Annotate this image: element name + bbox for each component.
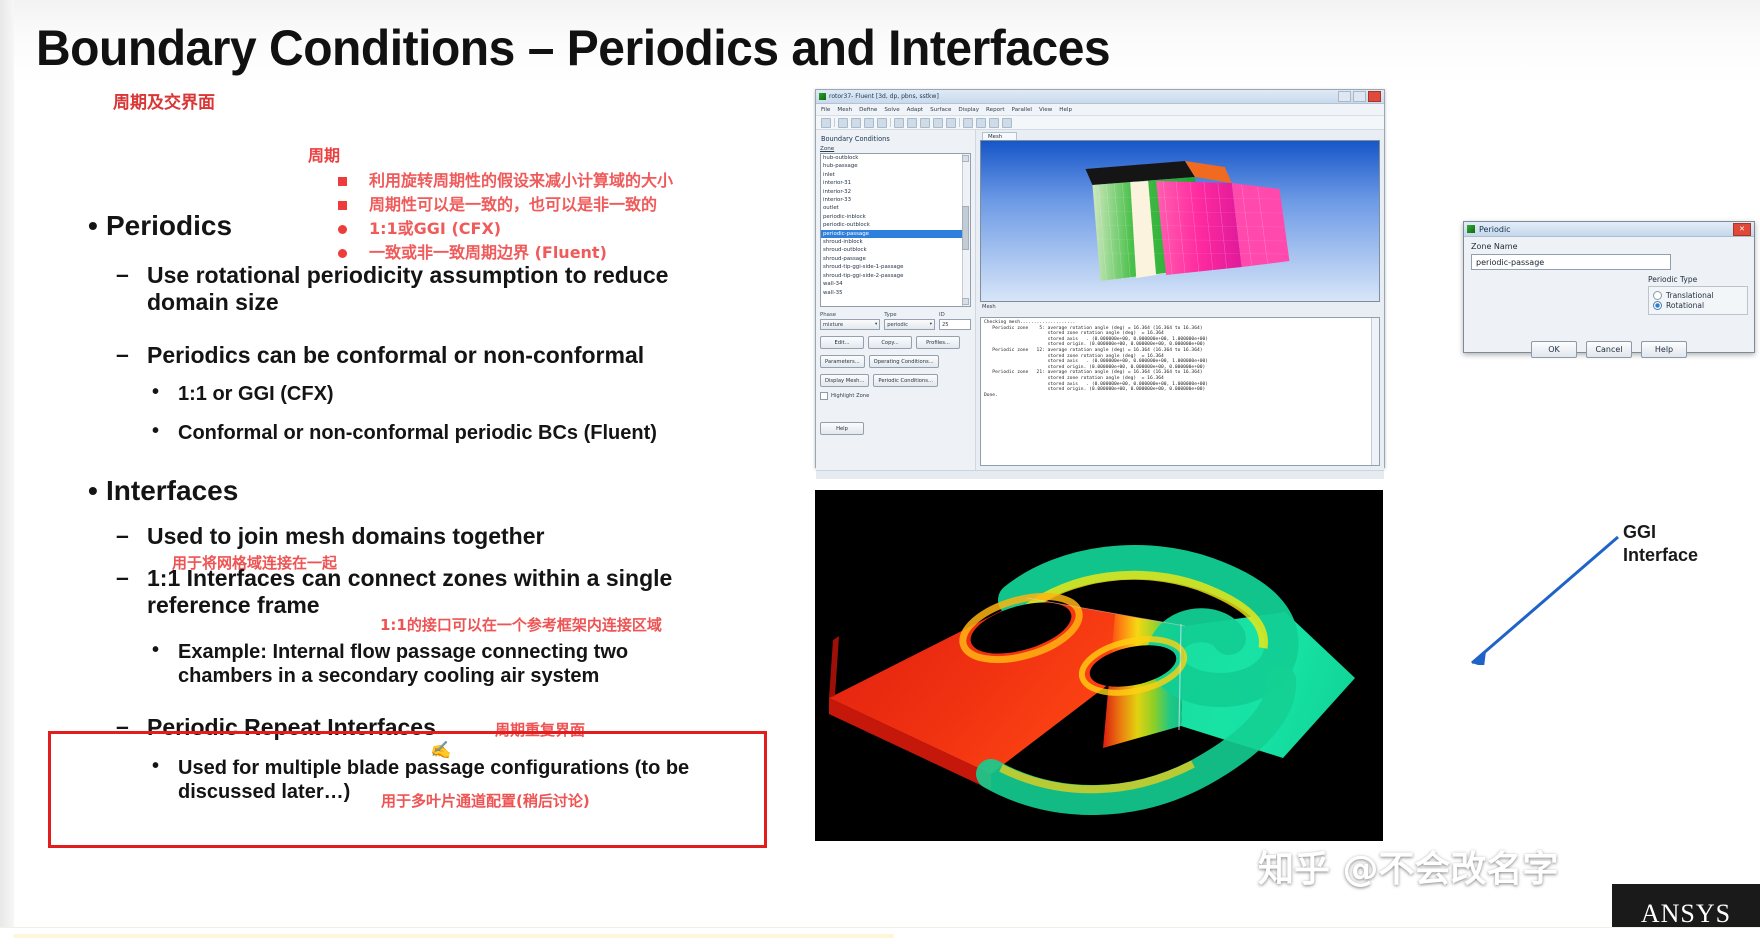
id-value[interactable]: 25: [939, 319, 971, 330]
menu-file[interactable]: File: [821, 107, 830, 113]
console-text: Checking mesh.................... Period…: [984, 320, 1376, 398]
bullet-line: domain size: [147, 289, 767, 316]
square-bullet-icon: [338, 201, 347, 210]
dash-bullet-icon: –: [116, 522, 129, 549]
annotation-item-text: 一致或非一致周期边界 (Fluent): [369, 243, 607, 263]
rotate-icon[interactable]: [894, 118, 904, 128]
chevron-down-icon: ▾: [930, 322, 932, 327]
type-value: periodic: [887, 322, 908, 328]
edit-button[interactable]: Edit...: [820, 336, 864, 349]
red-highlight-box: [48, 731, 767, 848]
zone-list-item[interactable]: interior-31: [821, 179, 970, 187]
boundary-conditions-panel[interactable]: Boundary Conditions Zone hub-outblock hu…: [816, 130, 976, 470]
zone-list-item-selected[interactable]: periodic-passage: [821, 230, 970, 238]
annotation-item-text: 周期性可以是一致的，也可以是非一致的: [369, 195, 657, 215]
bullet-interfaces-heading: •Interfaces: [88, 475, 238, 507]
annotation-item-text: 1:1或GGI (CFX): [369, 219, 501, 239]
minimize-icon[interactable]: [1338, 91, 1351, 102]
periodic-type-label: Periodic Type: [1648, 275, 1748, 284]
zone-list-item[interactable]: wall-35: [821, 289, 970, 297]
scroll-down-icon[interactable]: [962, 298, 969, 305]
periodic-dialog-body: Zone Name periodic-passage Periodic Type…: [1464, 237, 1754, 367]
phase-label: Phase: [820, 312, 880, 318]
menu-surface[interactable]: Surface: [930, 107, 951, 113]
id-label: ID: [939, 312, 971, 318]
menu-mesh[interactable]: Mesh: [837, 107, 852, 113]
ggi-interface-label: GGI Interface: [1623, 521, 1698, 566]
copy-button[interactable]: Copy...: [868, 336, 912, 349]
radio-translational[interactable]: Translational: [1653, 291, 1743, 300]
write-icon[interactable]: [851, 118, 861, 128]
annotation-heading: 周期: [308, 142, 728, 166]
highlight-zone-label: Highlight Zone: [831, 393, 869, 399]
help-button[interactable]: Help: [1641, 341, 1687, 358]
radio-icon[interactable]: [1653, 291, 1662, 300]
periodic-dialog-buttons[interactable]: OK Cancel Help: [1464, 341, 1754, 358]
zone-list-item[interactable]: periodic-inblock: [821, 213, 970, 221]
menu-adapt[interactable]: Adapt: [907, 107, 923, 113]
zoom-in-icon[interactable]: [920, 118, 930, 128]
panel-heading: Boundary Conditions: [821, 135, 971, 143]
bullet-1to1-interfaces-connect-zones: – 1:1 Interfaces can connect zones withi…: [147, 565, 787, 619]
bullet-dot-icon: •: [88, 475, 106, 507]
zone-list-label: Zone: [820, 146, 971, 152]
mesh-graphics-viewport[interactable]: ANSYS R15.0: [980, 140, 1380, 302]
fluent-menu-bar[interactable]: File Mesh Define Solve Adapt Surface Dis…: [816, 104, 1384, 116]
bullet-1to1-or-ggi-cfx: • 1:1 or GGI (CFX): [178, 382, 334, 406]
parameters-button[interactable]: Parameters...: [820, 355, 865, 368]
fit-icon[interactable]: [907, 118, 917, 128]
zhihu-watermark: 知乎 @不会改名字: [1258, 840, 1559, 892]
bullet-dot-icon: •: [152, 419, 159, 443]
graphics-tab-bar[interactable]: Mesh: [976, 130, 1384, 140]
radio-rotational[interactable]: Rotational: [1653, 301, 1743, 310]
checkbox-icon[interactable]: [820, 392, 828, 400]
fluent-main-body: Boundary Conditions Zone hub-outblock hu…: [816, 130, 1384, 470]
zone-attributes-row: Phase mixture ▾ Type periodic ▾: [820, 312, 971, 330]
help-button[interactable]: Help: [820, 422, 864, 435]
zone-list-item[interactable]: shroud-tip-ggi-side-1-passage: [821, 263, 970, 271]
copy-icon[interactable]: [877, 118, 887, 128]
annotation-item: 一致或非一致周期边界 (Fluent): [308, 243, 728, 263]
light-icon[interactable]: [989, 118, 999, 128]
menu-parallel[interactable]: Parallel: [1012, 107, 1032, 113]
bullet-conformal-or-nonconformal: – Periodics can be conformal or non-conf…: [147, 342, 787, 369]
fluent-toolbar[interactable]: [816, 116, 1384, 130]
annotation-item: 利用旋转周期性的假设来减小计算域的大小: [308, 171, 728, 191]
periodic-conditions-button[interactable]: Periodic Conditions...: [873, 374, 938, 387]
bullet-line: Used to join mesh domains together: [147, 523, 544, 550]
menu-view[interactable]: View: [1039, 107, 1052, 113]
zone-list-item[interactable]: interior-32: [821, 188, 970, 196]
zoom-out-icon[interactable]: [933, 118, 943, 128]
window-controls[interactable]: [1338, 91, 1381, 102]
close-icon[interactable]: [1368, 91, 1381, 102]
toolbar-separator: [834, 118, 835, 127]
dash-bullet-icon: –: [116, 564, 129, 591]
fluent-title-bar[interactable]: rotor37- Fluent [3d, dp, pbns, sstkw]: [816, 90, 1384, 104]
annotation-item: 1:1或GGI (CFX): [308, 219, 728, 239]
select-icon[interactable]: [976, 118, 986, 128]
zone-list-item[interactable]: outlet: [821, 204, 970, 212]
scan-artifact-band: [150, 636, 770, 644]
zone-list-item[interactable]: shroud-tip-ggi-side-2-passage: [821, 272, 970, 280]
bullet-line: chambers in a secondary cooling air syst…: [178, 664, 628, 688]
annotation-item: 周期性可以是一致的，也可以是非一致的: [308, 195, 728, 215]
highlight-zone-checkbox[interactable]: Highlight Zone: [820, 392, 971, 400]
probe-icon[interactable]: [963, 118, 973, 128]
bullet-conformal-periodic-bcs-fluent: • Conformal or non-conformal periodic BC…: [178, 421, 657, 445]
chinese-annotation-block: 周期 利用旋转周期性的假设来减小计算域的大小 周期性可以是一致的，也可以是非一致…: [308, 142, 728, 267]
ggi-label-line2: Interface: [1623, 544, 1698, 567]
phase-value: mixture: [823, 322, 843, 328]
circle-bullet-icon: [338, 249, 347, 258]
bullet-line: 1:1 or GGI (CFX): [178, 382, 334, 406]
toolbar-separator: [890, 118, 891, 127]
pan-icon[interactable]: [946, 118, 956, 128]
mouse-cursor-icon: ✍: [430, 739, 454, 762]
zone-action-buttons[interactable]: Edit... Copy... Profiles...: [820, 336, 971, 349]
bullet-used-to-join-mesh-domains: – Used to join mesh domains together: [147, 523, 544, 550]
display-mesh-button[interactable]: Display Mesh...: [820, 374, 869, 387]
periodic-dialog[interactable]: Periodic ✕ Zone Name periodic-passage Pe…: [1463, 221, 1755, 353]
bullet-periodics-heading: •Periodics: [88, 210, 232, 242]
chevron-down-icon: ▾: [875, 322, 877, 327]
menu-help[interactable]: Help: [1059, 107, 1072, 113]
fluent-app-icon: [819, 93, 826, 100]
radio-translational-label: Translational: [1666, 291, 1714, 300]
save-icon[interactable]: [821, 118, 831, 128]
menu-solve[interactable]: Solve: [884, 107, 899, 113]
bullet-dot-icon: •: [88, 210, 106, 242]
presentation-slide: Boundary Conditions – Periodics and Inte…: [0, 0, 1760, 944]
fluent-window-title: rotor37- Fluent [3d, dp, pbns, sstkw]: [829, 93, 939, 100]
phase-combo[interactable]: mixture ▾: [820, 319, 880, 330]
translation-1to1-interfaces: 1:1的接口可以在一个参考框架内连接区域: [380, 614, 662, 635]
dash-bullet-icon: –: [116, 261, 129, 288]
type-field[interactable]: Type periodic ▾: [884, 312, 935, 330]
type-combo[interactable]: periodic ▾: [884, 319, 935, 330]
square-bullet-icon: [338, 177, 347, 186]
bullet-dot-icon: •: [152, 380, 159, 404]
view-icon[interactable]: [1002, 118, 1012, 128]
ansys-watermark-text: ANSYS: [1641, 899, 1731, 929]
bullet-example-internal-flow-passage: • Example: Internal flow passage connect…: [178, 640, 628, 688]
maximize-icon[interactable]: [1353, 91, 1366, 102]
zone-action-buttons-2[interactable]: Parameters... Operating Conditions...: [820, 355, 971, 368]
ggi-arrow-icon: [1360, 535, 1630, 665]
page-title: Boundary Conditions – Periodics and Inte…: [36, 22, 1110, 75]
periodic-dialog-title-bar[interactable]: Periodic ✕: [1464, 222, 1754, 237]
zone-list-item[interactable]: hub-outblock: [821, 154, 970, 162]
bullet-line: Use rotational periodicity assumption to…: [147, 262, 767, 289]
radio-icon-selected[interactable]: [1653, 301, 1662, 310]
menu-report[interactable]: Report: [986, 107, 1005, 113]
zone-name-input[interactable]: periodic-passage: [1471, 254, 1671, 270]
help-button-row[interactable]: Help: [820, 422, 971, 435]
ok-button[interactable]: OK: [1531, 341, 1577, 358]
scroll-up-icon[interactable]: [962, 155, 969, 162]
fluent-graphics-area: Mesh: [976, 130, 1384, 470]
zone-list[interactable]: hub-outblock hub-passage inlet interior-…: [820, 153, 971, 307]
cfd-contour-image: [815, 490, 1383, 841]
type-label: Type: [884, 312, 935, 318]
slide-left-edge: [0, 0, 14, 944]
menu-display[interactable]: Display: [958, 107, 979, 113]
ggi-label-line1: GGI: [1623, 521, 1698, 544]
blade-mesh-render: [981, 141, 1379, 301]
page-title-translation: 周期及交界面: [113, 88, 215, 113]
bullet-line: 1:1 Interfaces can connect zones within …: [147, 565, 787, 592]
phase-field[interactable]: Phase mixture ▾: [820, 312, 880, 330]
zone-list-item[interactable]: shroud-passage: [821, 255, 970, 263]
zone-action-buttons-3[interactable]: Display Mesh... Periodic Conditions...: [820, 374, 971, 387]
open-icon[interactable]: [838, 118, 848, 128]
dash-bullet-icon: –: [116, 341, 129, 368]
zone-list-item[interactable]: shroud-outblock: [821, 246, 970, 254]
close-icon[interactable]: ✕: [1733, 223, 1751, 236]
fluent-status-bar: [816, 470, 1384, 479]
zone-name-label: Zone Name: [1471, 242, 1747, 251]
periodic-dialog-title: Periodic: [1479, 225, 1511, 234]
id-field[interactable]: ID 25: [939, 312, 971, 330]
console-scrollbar[interactable]: [1371, 318, 1379, 465]
fluent-application-window[interactable]: rotor37- Fluent [3d, dp, pbns, sstkw] Fi…: [815, 89, 1385, 468]
menu-define[interactable]: Define: [859, 107, 877, 113]
cfd-surface-render: [815, 490, 1383, 841]
operating-conditions-button[interactable]: Operating Conditions...: [869, 355, 939, 368]
fluent-console-output[interactable]: Checking mesh.................... Period…: [980, 317, 1380, 466]
periodic-type-group[interactable]: Periodic Type Translational Rotational: [1648, 275, 1748, 315]
mesh-caption: Mesh: [982, 304, 1384, 310]
zone-list-item[interactable]: inlet: [821, 171, 970, 179]
zone-list-item[interactable]: wall-34: [821, 280, 970, 288]
circle-bullet-icon: [338, 225, 347, 234]
zone-list-item[interactable]: periodic-outblock: [821, 221, 970, 229]
bullet-label: Periodics: [106, 210, 232, 241]
radio-rotational-label: Rotational: [1666, 301, 1704, 310]
print-icon[interactable]: [864, 118, 874, 128]
bullet-label: Interfaces: [106, 475, 238, 506]
toolbar-separator: [959, 118, 960, 127]
profiles-button[interactable]: Profiles...: [916, 336, 960, 349]
bullet-use-rotational-periodicity: – Use rotational periodicity assumption …: [147, 262, 767, 316]
bullet-line: Periodics can be conformal or non-confor…: [147, 342, 787, 369]
cancel-button[interactable]: Cancel: [1586, 341, 1632, 358]
tab-mesh[interactable]: Mesh: [982, 132, 1017, 140]
slide-bottom-accent: [14, 934, 894, 938]
bullet-line: Conformal or non-conformal periodic BCs …: [178, 421, 657, 445]
zone-list-item[interactable]: shroud-inblock: [821, 238, 970, 246]
fluent-app-icon: [1467, 225, 1475, 233]
zone-list-item[interactable]: interior-33: [821, 196, 970, 204]
periodic-type-options[interactable]: Translational Rotational: [1648, 286, 1748, 315]
annotation-item-text: 利用旋转周期性的假设来减小计算域的大小: [369, 171, 673, 191]
zone-list-item[interactable]: hub-passage: [821, 162, 970, 170]
scrollbar-thumb[interactable]: [962, 206, 969, 250]
